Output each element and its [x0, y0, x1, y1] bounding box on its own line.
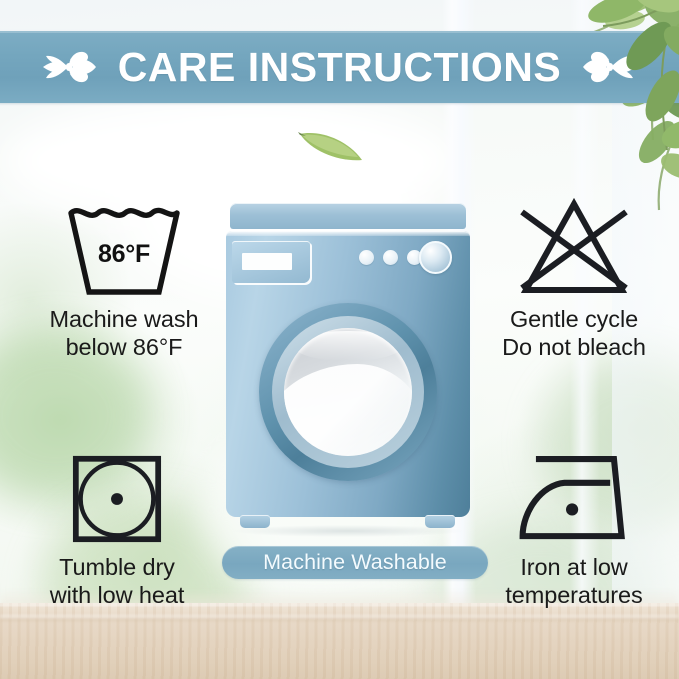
instruction-caption: Tumble dry with low heat — [10, 554, 224, 609]
washer-top-panel — [230, 203, 466, 229]
wash-tub-icon: 86°F — [12, 196, 236, 300]
status-badge-label: Machine Washable — [263, 552, 447, 574]
foliage-branch-front — [517, 0, 679, 214]
instruction-caption: Gentle cycle Do not bleach — [470, 306, 678, 361]
instruction-caption: Machine wash below 86°F — [12, 306, 236, 361]
washer-door-outer-ring — [259, 303, 437, 481]
instruction-machine-wash: 86°F Machine wash below 86°F — [12, 196, 236, 361]
control-button — [383, 250, 398, 265]
tumble-dry-low-icon — [10, 452, 224, 546]
washer-door-inner-ring — [272, 316, 424, 468]
glass-highlight-swoosh — [284, 364, 412, 456]
dial-knob — [419, 241, 452, 274]
glass-highlight-top — [294, 331, 402, 362]
washer-panel-divider — [226, 231, 470, 236]
instruction-caption: Iron at low temperatures — [470, 554, 678, 609]
scene-background: CARE INSTRUCTIONS — [0, 0, 679, 679]
instruction-tumble-dry: Tumble dry with low heat — [10, 452, 224, 609]
control-buttons — [359, 250, 422, 265]
control-button — [359, 250, 374, 265]
drawer-slot — [242, 253, 292, 270]
iron-low-heat-icon — [470, 452, 678, 546]
washer-door-glass — [284, 328, 412, 456]
do-not-bleach-triangle-icon — [470, 196, 678, 300]
washer-body — [226, 231, 470, 517]
fleur-de-lis-icon — [38, 45, 100, 89]
instruction-iron-low: Iron at low temperatures — [470, 452, 678, 609]
instruction-do-not-bleach: Gentle cycle Do not bleach — [470, 196, 678, 361]
leaf-icon — [296, 118, 366, 166]
wash-temperature-value: 86°F — [12, 240, 236, 269]
table-edge-highlight — [0, 615, 679, 621]
detergent-drawer — [232, 241, 310, 283]
washer-shadow — [234, 525, 462, 537]
washing-machine-illustration — [226, 203, 470, 528]
status-badge: Machine Washable — [222, 546, 488, 579]
page-title: CARE INSTRUCTIONS — [118, 47, 562, 88]
